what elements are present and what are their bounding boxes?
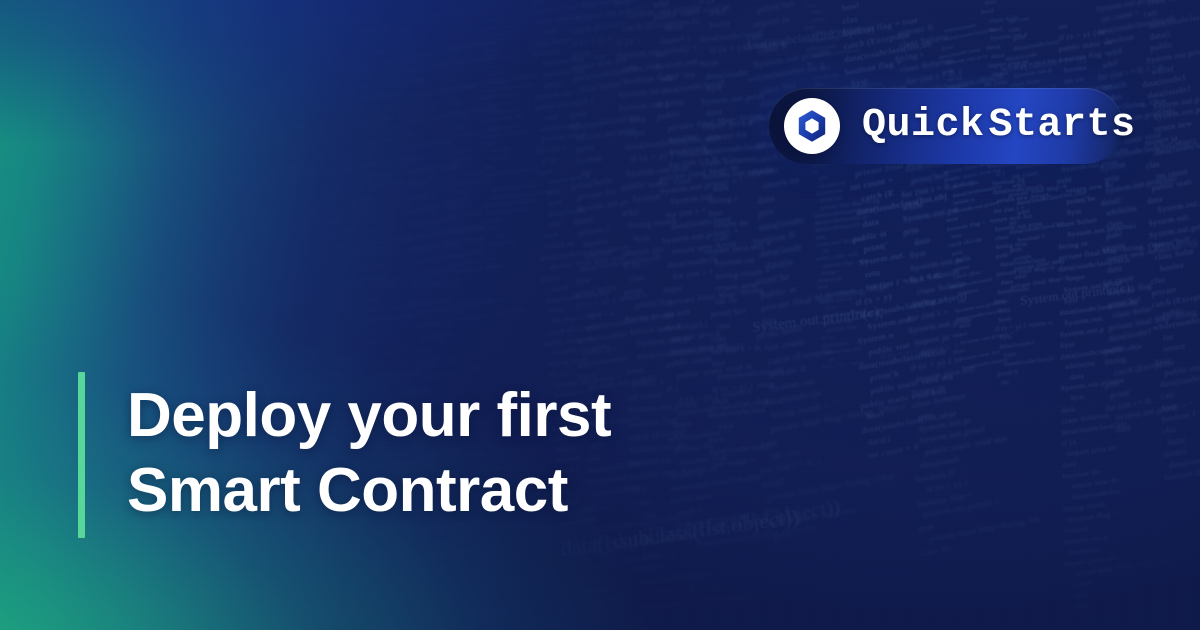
- accent-bar: [78, 372, 85, 538]
- chainlink-hexagon-icon: [784, 98, 840, 154]
- brand-word-quick: Quick: [862, 103, 985, 148]
- headline-block: Deploy your first Smart Contract: [78, 372, 611, 538]
- brand-word-starts: Starts: [989, 103, 1136, 148]
- quickstarts-badge[interactable]: QuickStarts: [769, 88, 1123, 164]
- page-title: Deploy your first Smart Contract: [85, 372, 611, 538]
- brand-wordmark: QuickStarts: [862, 106, 1136, 146]
- quickstarts-banner: data(issubclass(list,obje import java.ut…: [0, 0, 1200, 630]
